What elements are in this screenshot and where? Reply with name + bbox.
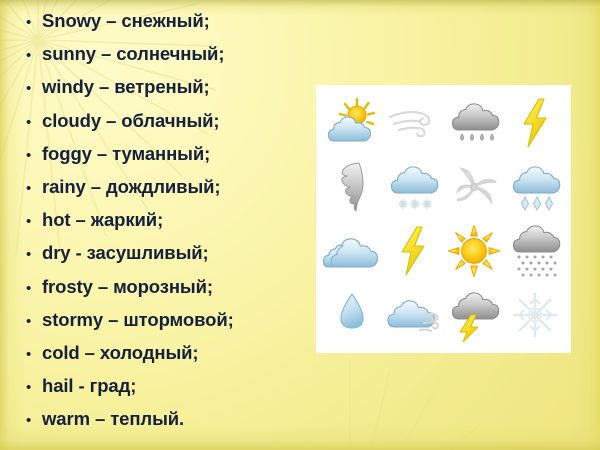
bullet-icon: •: [26, 380, 42, 395]
weather-icon-grid: [322, 91, 565, 347]
list-item: • frosty – морозный;: [26, 276, 316, 309]
list-item: • cloudy – облачный;: [26, 110, 316, 143]
vocabulary-list: • Snowy – снежный; • sunny – солнечный; …: [26, 10, 316, 441]
slide-canvas: • Snowy – снежный; • sunny – солнечный; …: [0, 0, 600, 450]
bullet-icon: •: [26, 15, 42, 30]
weather-icon-cell: [322, 155, 383, 219]
bullet-icon: •: [26, 314, 42, 329]
list-item: • sunny – солнечный;: [26, 43, 316, 76]
list-item: • rainy – дождливый;: [26, 176, 316, 209]
list-item: • hail - град;: [26, 375, 316, 408]
vocabulary-entry: hot – жаркий;: [42, 209, 163, 231]
list-item: • warm – теплый.: [26, 408, 316, 441]
weather-icon-cell: [444, 283, 505, 347]
hurricane-icon: [450, 163, 498, 211]
tornado-icon: [334, 160, 370, 214]
weather-icon-cell: [504, 91, 565, 155]
weather-icon-cell: [444, 155, 505, 219]
water-drop-icon: [337, 292, 367, 338]
list-item: • dry - засушливый;: [26, 242, 316, 275]
weather-icon-panel: [316, 85, 571, 353]
bullet-icon: •: [26, 281, 42, 296]
bullet-icon: •: [26, 214, 42, 229]
weather-icon-cell: [383, 91, 444, 155]
vocabulary-entry: sunny – солнечный;: [42, 43, 224, 65]
sleet-cloud-icon: [507, 223, 563, 279]
vocabulary-entry: hail - град;: [42, 375, 136, 397]
sun-icon: [448, 225, 500, 277]
list-item: • stormy – штормовой;: [26, 309, 316, 342]
vocabulary-entry: Snowy – снежный;: [42, 10, 210, 32]
lightning-bolt-icon: [396, 225, 430, 277]
vocabulary-entry: windy – ветреный;: [42, 76, 210, 98]
weather-icon-cell: [444, 219, 505, 283]
hail-cloud-icon: [507, 160, 563, 214]
sun-behind-cloud-icon: [324, 97, 380, 149]
vocabulary-entry: frosty – морозный;: [42, 276, 213, 298]
windy-cloud-icon: [384, 293, 442, 337]
vocabulary-entry: rainy – дождливый;: [42, 176, 220, 198]
bullet-icon: •: [26, 81, 42, 96]
list-item: • windy – ветреный;: [26, 76, 316, 109]
list-item: • hot – жаркий;: [26, 209, 316, 242]
vocabulary-entry: foggy – туманный;: [42, 143, 210, 165]
vocabulary-entry: warm – теплый.: [42, 408, 184, 430]
weather-icon-cell: [322, 283, 383, 347]
list-item: • foggy – туманный;: [26, 143, 316, 176]
weather-icon-cell: [383, 219, 444, 283]
wind-swirl-icon: [386, 103, 440, 143]
bullet-icon: •: [26, 347, 42, 362]
vocabulary-entry: dry - засушливый;: [42, 242, 209, 264]
weather-icon-cell: [322, 91, 383, 155]
vocabulary-entry: cloudy – облачный;: [42, 110, 219, 132]
list-item: • cold – холодный;: [26, 342, 316, 375]
list-item: • Snowy – снежный;: [26, 10, 316, 43]
bullet-icon: •: [26, 413, 42, 428]
cloudy-icon: [323, 229, 381, 273]
bullet-icon: •: [26, 115, 42, 130]
bullet-icon: •: [26, 48, 42, 63]
vocabulary-entry: stormy – штормовой;: [42, 309, 234, 331]
weather-icon-cell: [383, 155, 444, 219]
snowflake-icon: [512, 292, 558, 338]
snow-cloud-icon: [385, 160, 441, 214]
rain-cloud-icon: [446, 96, 502, 150]
weather-icon-cell: [504, 283, 565, 347]
bullet-icon: •: [26, 148, 42, 163]
bullet-icon: •: [26, 247, 42, 262]
lightning-bolt-icon: [518, 97, 552, 149]
bullet-icon: •: [26, 181, 42, 196]
weather-icon-cell: [322, 219, 383, 283]
weather-icon-cell: [383, 283, 444, 347]
weather-icon-cell: [504, 155, 565, 219]
weather-icon-cell: [504, 219, 565, 283]
weather-icon-cell: [444, 91, 505, 155]
thunder-cloud-icon: [447, 288, 501, 342]
vocabulary-entry: cold – холодный;: [42, 342, 198, 364]
